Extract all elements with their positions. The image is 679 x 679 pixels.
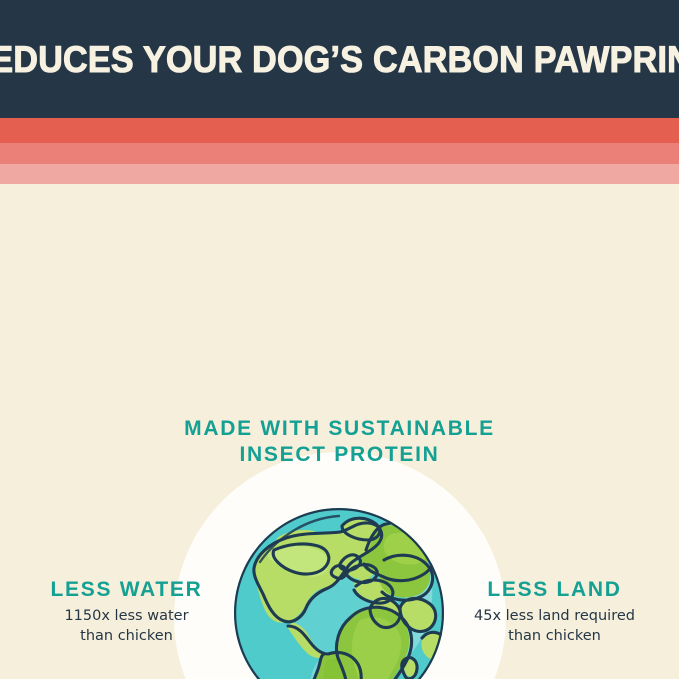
benefit-left-heading: LESS WATER [14, 577, 239, 603]
stripe-pink [0, 164, 679, 184]
earth-globe-icon [230, 504, 448, 679]
header-band: REDUCES YOUR DOG’S CARBON PAWPRINT [0, 0, 679, 118]
benefits-section: MADE WITH SUSTAINABLE INSECT PROTEIN LES… [0, 184, 679, 679]
benefit-right-heading: LESS LAND [442, 577, 667, 603]
benefit-top-heading: MADE WITH SUSTAINABLE INSECT PROTEIN [0, 416, 679, 467]
infographic-card: REDUCES YOUR DOG’S CARBON PAWPRINT [0, 0, 679, 679]
benefit-right-sub: 45x less land required than chicken [442, 606, 667, 646]
stripe-coral [0, 118, 679, 143]
benefit-left: LESS WATER 1150x less water than chicken [14, 577, 239, 646]
benefit-right: LESS LAND 45x less land required than ch… [442, 577, 667, 646]
stripe-salmon [0, 143, 679, 164]
benefit-top: MADE WITH SUSTAINABLE INSECT PROTEIN [0, 416, 679, 470]
page-title: REDUCES YOUR DOG’S CARBON PAWPRINT [0, 41, 679, 78]
benefit-left-sub: 1150x less water than chicken [14, 606, 239, 646]
